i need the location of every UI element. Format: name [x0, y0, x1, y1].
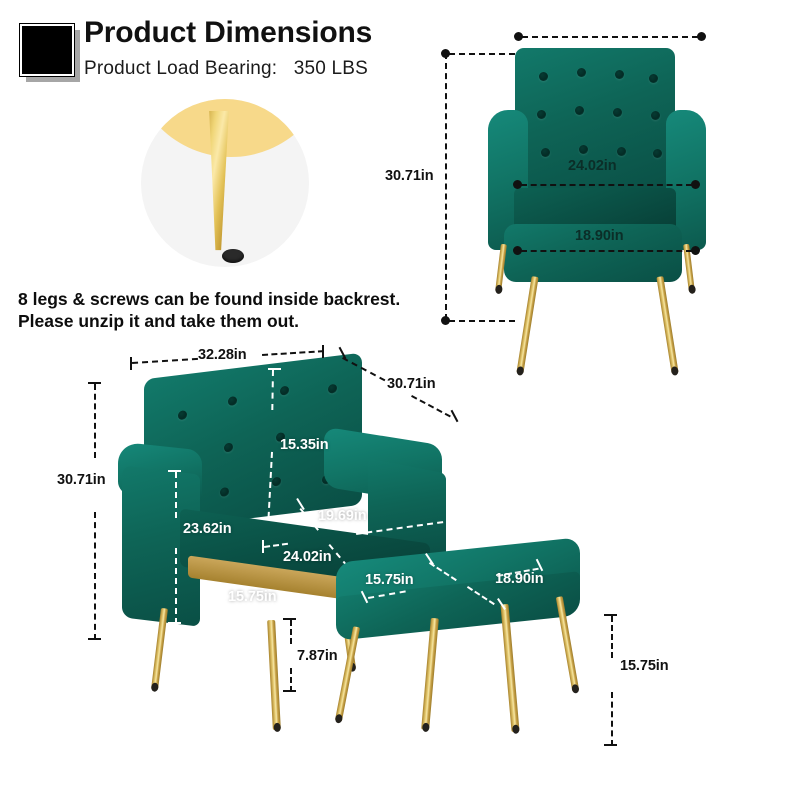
front-leg-1 [516, 276, 538, 374]
backrest-cap-top [268, 368, 281, 370]
ottoman-depth-label: 15.75in [365, 572, 413, 588]
arm-height-line-upper [175, 472, 177, 518]
chair-overall-depth-label: 30.71in [387, 376, 435, 392]
front-height-line [445, 53, 447, 320]
leg-closeup-inset [141, 99, 309, 267]
front-ottoman-width-label: 18.90in [575, 228, 623, 244]
leg-foot-cap-icon [222, 249, 244, 263]
front-leg-2 [656, 276, 678, 374]
front-view-chair [480, 48, 725, 348]
leg-height-line-upper [290, 620, 292, 644]
front-seat-width-line [521, 184, 692, 186]
height-line-upper [94, 384, 96, 458]
seat-depth-label: 19.69in [318, 508, 366, 524]
front-seat-width-label: 24.02in [568, 158, 616, 174]
front-top-dot-right [697, 32, 706, 41]
backrest-height-label: 15.35in [280, 437, 328, 453]
arm-height-label: 23.62in [183, 521, 231, 537]
front-height-leader-top [449, 53, 515, 55]
seat-height-label: 15.75in [228, 589, 276, 605]
front-top-line [522, 36, 698, 38]
front-seat-dot-right [691, 180, 700, 189]
ottoman-leg-3 [500, 604, 519, 732]
front-overall-height-label: 30.71in [385, 168, 433, 184]
front-ottoman-dot-right [691, 246, 700, 255]
front-height-leader-bottom [449, 320, 515, 322]
page-title: Product Dimensions [84, 16, 372, 50]
ottoman-leg-2 [421, 618, 439, 730]
black-square-logo-icon [20, 24, 74, 76]
backrest-cap-bottom [264, 518, 277, 520]
ottoman-width-label: 18.90in [495, 571, 543, 587]
height-line-lower [94, 512, 96, 640]
load-bearing-line: Product Load Bearing: 350 LBS [84, 58, 368, 80]
ottoman-leg-1 [335, 626, 360, 722]
load-bearing-value: 350 LBS [294, 58, 368, 79]
ottoman-height-line-upper [611, 616, 613, 658]
load-bearing-label: Product Load Bearing: [84, 58, 277, 79]
chair-overall-height-label: 30.71in [57, 472, 105, 488]
seat-width-label: 24.02in [283, 549, 331, 565]
seat-height-line-upper [220, 594, 222, 612]
front-ottoman-width-line [521, 250, 692, 252]
product-dimensions-infographic: Product Dimensions Product Load Bearing:… [0, 0, 800, 800]
width-line-right [262, 350, 324, 356]
leg-height-line-lower [290, 668, 292, 692]
seat-height-line-lower [220, 626, 222, 656]
chair-overall-width-label: 32.28in [198, 347, 246, 363]
depth-cap-end [451, 410, 459, 422]
ottoman-height-line-lower [611, 692, 613, 746]
gold-leg-icon [205, 111, 231, 259]
angled-leg-front-right [267, 620, 281, 730]
arm-height-line-lower [175, 548, 177, 624]
assembly-note: 8 legs & screws can be found inside back… [18, 288, 400, 333]
ottoman-height-label: 15.75in [620, 658, 668, 674]
ottoman-view [328, 538, 598, 748]
